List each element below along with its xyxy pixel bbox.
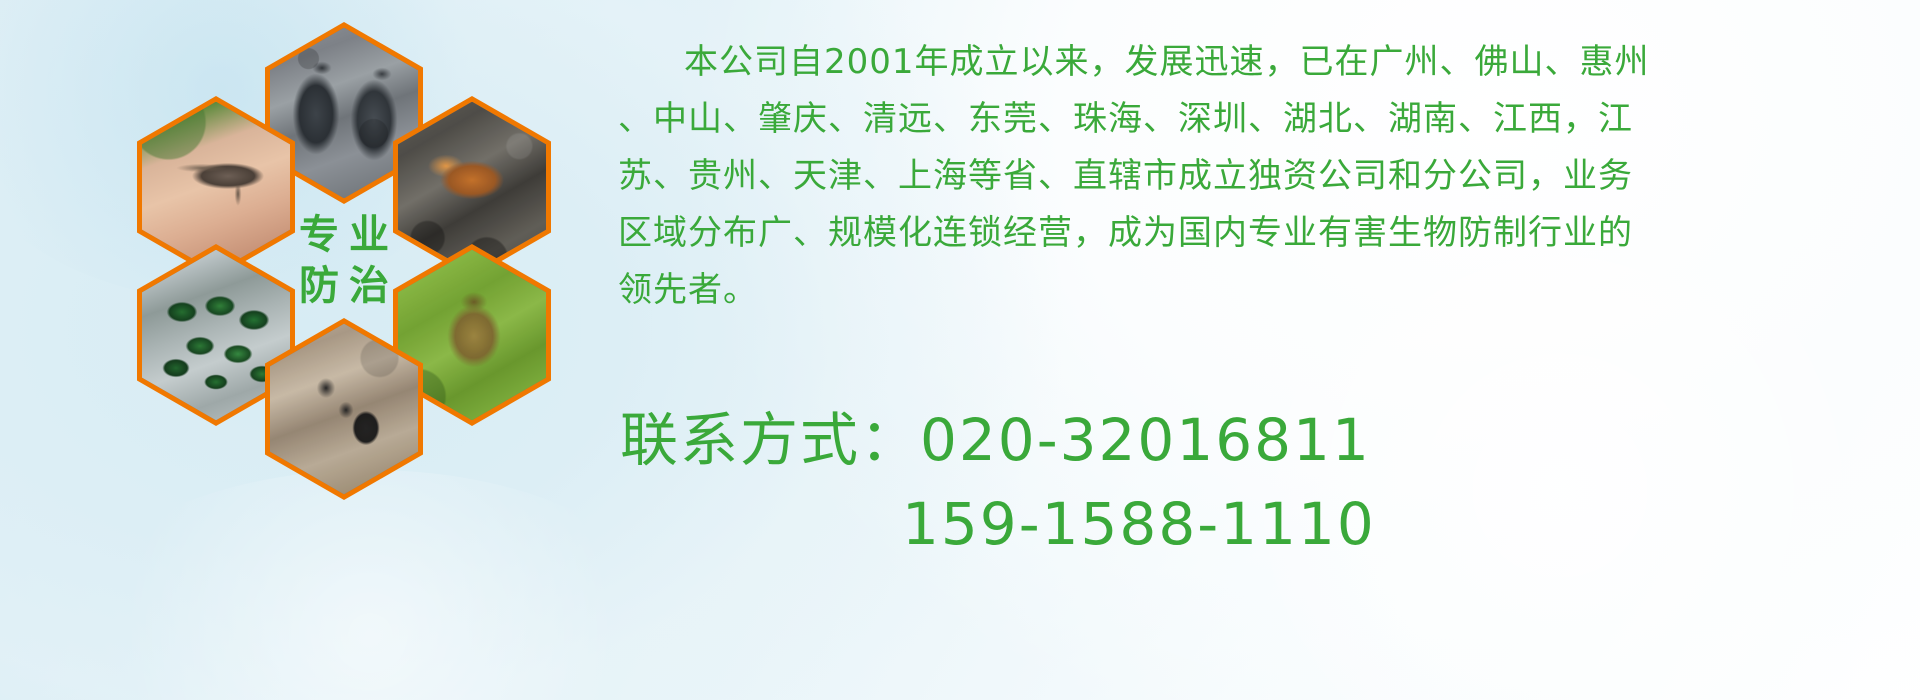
- slogan-line-2: 防治: [289, 265, 399, 308]
- intro-line-3: 苏、贵州、天津、上海等省、直辖市成立独资公司和分公司，业务: [618, 148, 1918, 205]
- intro-line-4: 区域分布广、规模化连锁经营，成为国内专业有害生物防制行业的: [618, 205, 1918, 262]
- intro-line-2: 、中山、肇庆、清远、东莞、珠海、深圳、湖北、湖南、江西，江: [618, 91, 1918, 148]
- contact-phone-mobile[interactable]: 159-1588-1110: [620, 482, 1920, 566]
- intro-line-5: 领先者。: [618, 262, 1918, 319]
- promo-banner: 专业 防治 本公司自2001年成立以来，发展迅速，已在广州、佛山、惠州 、中山、…: [0, 0, 1920, 700]
- contact-phone-primary[interactable]: 联系方式：020-32016811: [620, 398, 1920, 482]
- contact-block: 联系方式：020-32016811 159-1588-1110: [620, 398, 1920, 566]
- honeycomb-collage: 专业 防治: [95, 0, 595, 560]
- slogan-line-1: 专业: [289, 214, 399, 257]
- intro-line-1: 本公司自2001年成立以来，发展迅速，已在广州、佛山、惠州: [618, 34, 1918, 91]
- company-intro-paragraph: 本公司自2001年成立以来，发展迅速，已在广州、佛山、惠州 、中山、肇庆、清远、…: [618, 34, 1918, 319]
